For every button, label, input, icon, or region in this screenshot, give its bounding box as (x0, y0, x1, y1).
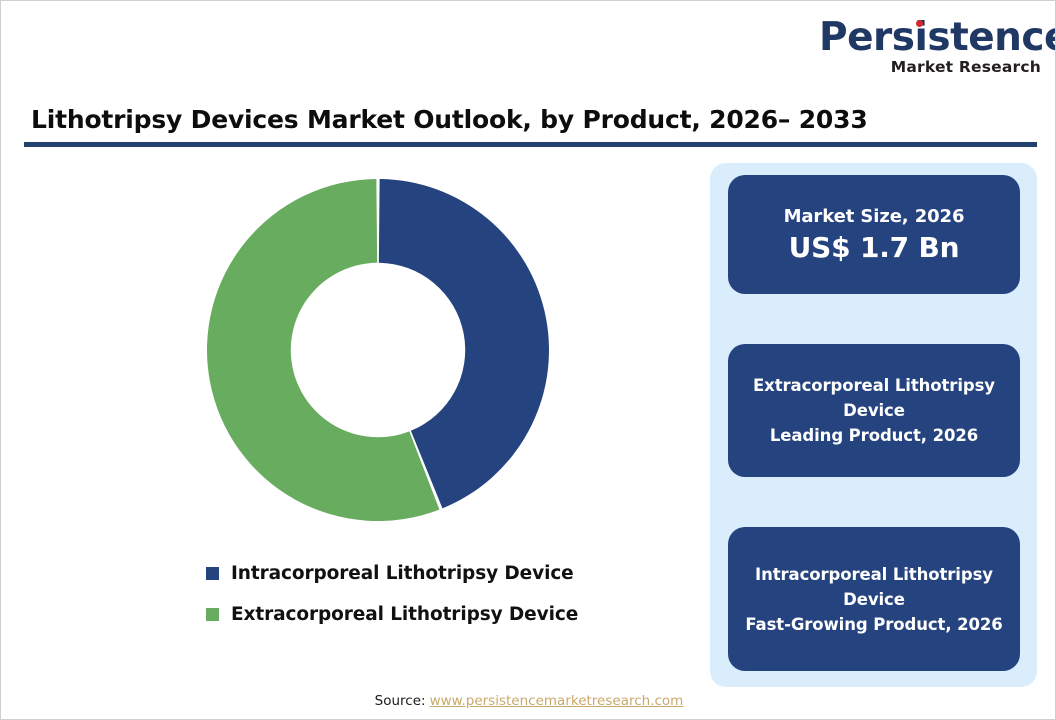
donut-chart (181, 156, 581, 546)
market-size-label: Market Size, 2026 (784, 204, 965, 230)
stats-panel: Market Size, 2026 US$ 1.7 Bn Extracorpor… (710, 163, 1037, 687)
donut-slice-group (207, 179, 549, 521)
legend-swatch-icon-intracorporeal (206, 567, 219, 580)
leading-product-name-line2: Device (843, 398, 905, 423)
fast-growing-product-caption: Fast-Growing Product, 2026 (745, 612, 1002, 637)
donut-chart-svg (181, 156, 581, 546)
leading-product-name-line1: Extracorporeal Lithotripsy (753, 373, 995, 398)
page-title: Lithotripsy Devices Market Outlook, by P… (31, 105, 991, 134)
logo-wordmark-text: Persistence (819, 17, 1056, 59)
legend-swatch-icon-extracorporeal (206, 608, 219, 621)
fast-growing-product-name-line1: Intracorporeal Lithotripsy (755, 562, 993, 587)
company-logo: Persistence Market Research (819, 17, 1041, 77)
logo-red-dot-icon (916, 20, 923, 27)
infographic-page: Persistence Market Research Lithotripsy … (0, 0, 1056, 720)
chart-legend: Intracorporeal Lithotripsy Device Extrac… (206, 553, 656, 635)
legend-label-intracorporeal: Intracorporeal Lithotripsy Device (231, 563, 574, 584)
stat-card-leading-product: Extracorporeal Lithotripsy Device Leadin… (728, 344, 1020, 477)
fast-growing-product-name-line2: Device (843, 587, 905, 612)
source-line: Source:www.persistencemarketresearch.com (1, 693, 1056, 709)
legend-item-extracorporeal: Extracorporeal Lithotripsy Device (206, 594, 656, 635)
leading-product-caption: Leading Product, 2026 (770, 423, 978, 448)
stat-card-market-size: Market Size, 2026 US$ 1.7 Bn (728, 175, 1020, 294)
source-url-link[interactable]: www.persistencemarketresearch.com (430, 693, 684, 709)
legend-item-intracorporeal: Intracorporeal Lithotripsy Device (206, 553, 656, 594)
legend-label-extracorporeal: Extracorporeal Lithotripsy Device (231, 604, 578, 625)
stat-card-fast-growing-product: Intracorporeal Lithotripsy Device Fast-G… (728, 527, 1020, 671)
title-divider (24, 142, 1037, 147)
source-label: Source: (375, 693, 426, 709)
market-size-value: US$ 1.7 Bn (789, 230, 960, 266)
logo-tagline-label: Market Research (819, 58, 1041, 76)
logo-wordmark-label: Persistence (819, 15, 1056, 60)
